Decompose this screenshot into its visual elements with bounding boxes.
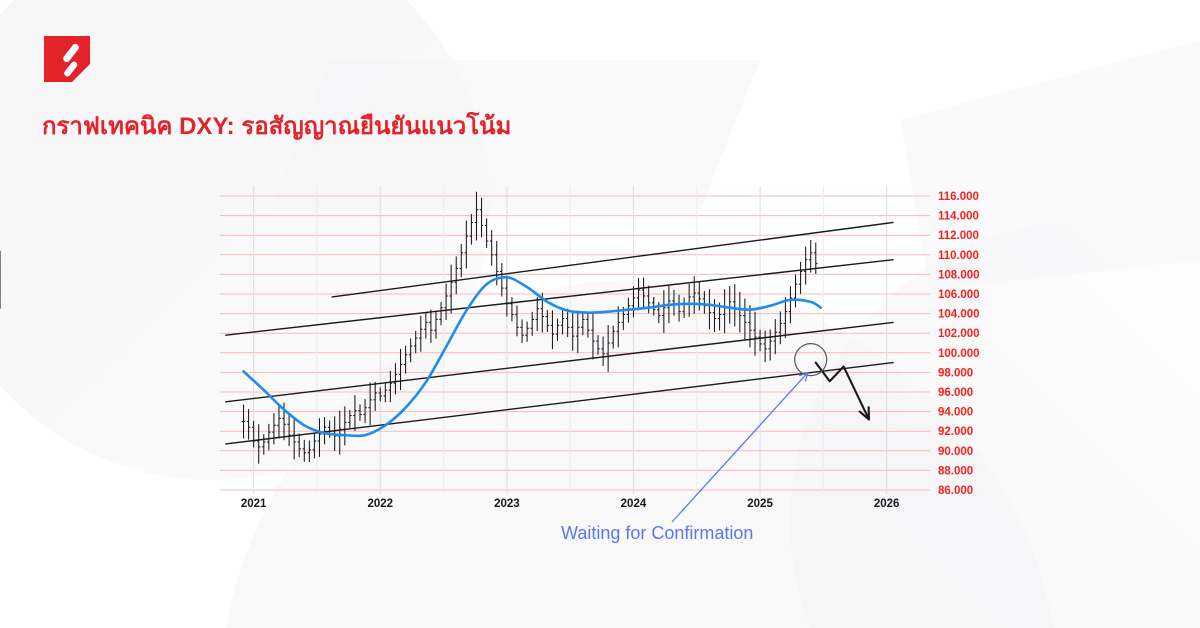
y-axis-tick-label: 112.000: [938, 230, 979, 242]
breakdown-watch-circle: [795, 344, 827, 376]
y-axis-tick-label: 86.000: [938, 485, 973, 497]
x-axis-tick-labels: 202120222023202420252026: [241, 498, 900, 510]
x-axis-tick-label: 2026: [874, 498, 900, 510]
y-axis-tick-label: 100.000: [938, 348, 980, 360]
candlestick-series: [0, 192, 818, 464]
y-axis-tick-label: 92.000: [938, 426, 973, 438]
y-axis-tick-label: 90.000: [938, 446, 973, 458]
y-axis-tick-labels: 116.000114.000112.000110.000108.000106.0…: [938, 191, 980, 497]
x-axis-tick-label: 2023: [494, 498, 520, 510]
leader-line: [672, 373, 808, 522]
lower-support-line: [226, 363, 893, 444]
x-axis-tick-label: 2021: [241, 498, 267, 510]
y-axis-tick-label: 108.000: [938, 269, 980, 281]
y-axis-tick-label: 94.000: [938, 407, 973, 419]
y-axis-tick-label: 114.000: [938, 211, 979, 223]
y-axis-tick-label: 106.000: [938, 289, 980, 301]
upper-resistance-line: [332, 222, 893, 296]
upper-mid-line: [226, 260, 893, 335]
x-axis-tick-label: 2024: [621, 498, 647, 510]
x-axis-tick-label: 2025: [747, 498, 773, 510]
circle-highlight-icon: [795, 344, 827, 376]
y-axis-tick-label: 102.000: [938, 328, 980, 340]
y-axis-tick-label: 96.000: [938, 387, 973, 399]
y-axis-tick-label: 98.000: [938, 367, 973, 379]
vertical-gridlines: [254, 186, 887, 494]
y-axis-tick-label: 88.000: [938, 465, 973, 477]
y-axis-tick-label: 116.000: [938, 191, 979, 203]
annotation-leader-arrow-icon: [672, 373, 808, 522]
y-axis-tick-label: 104.000: [938, 309, 980, 321]
annotation-label: Waiting for Confirmation: [561, 523, 753, 544]
y-axis-tick-label: 110.000: [938, 250, 979, 262]
x-axis-tick-label: 2022: [367, 498, 393, 510]
